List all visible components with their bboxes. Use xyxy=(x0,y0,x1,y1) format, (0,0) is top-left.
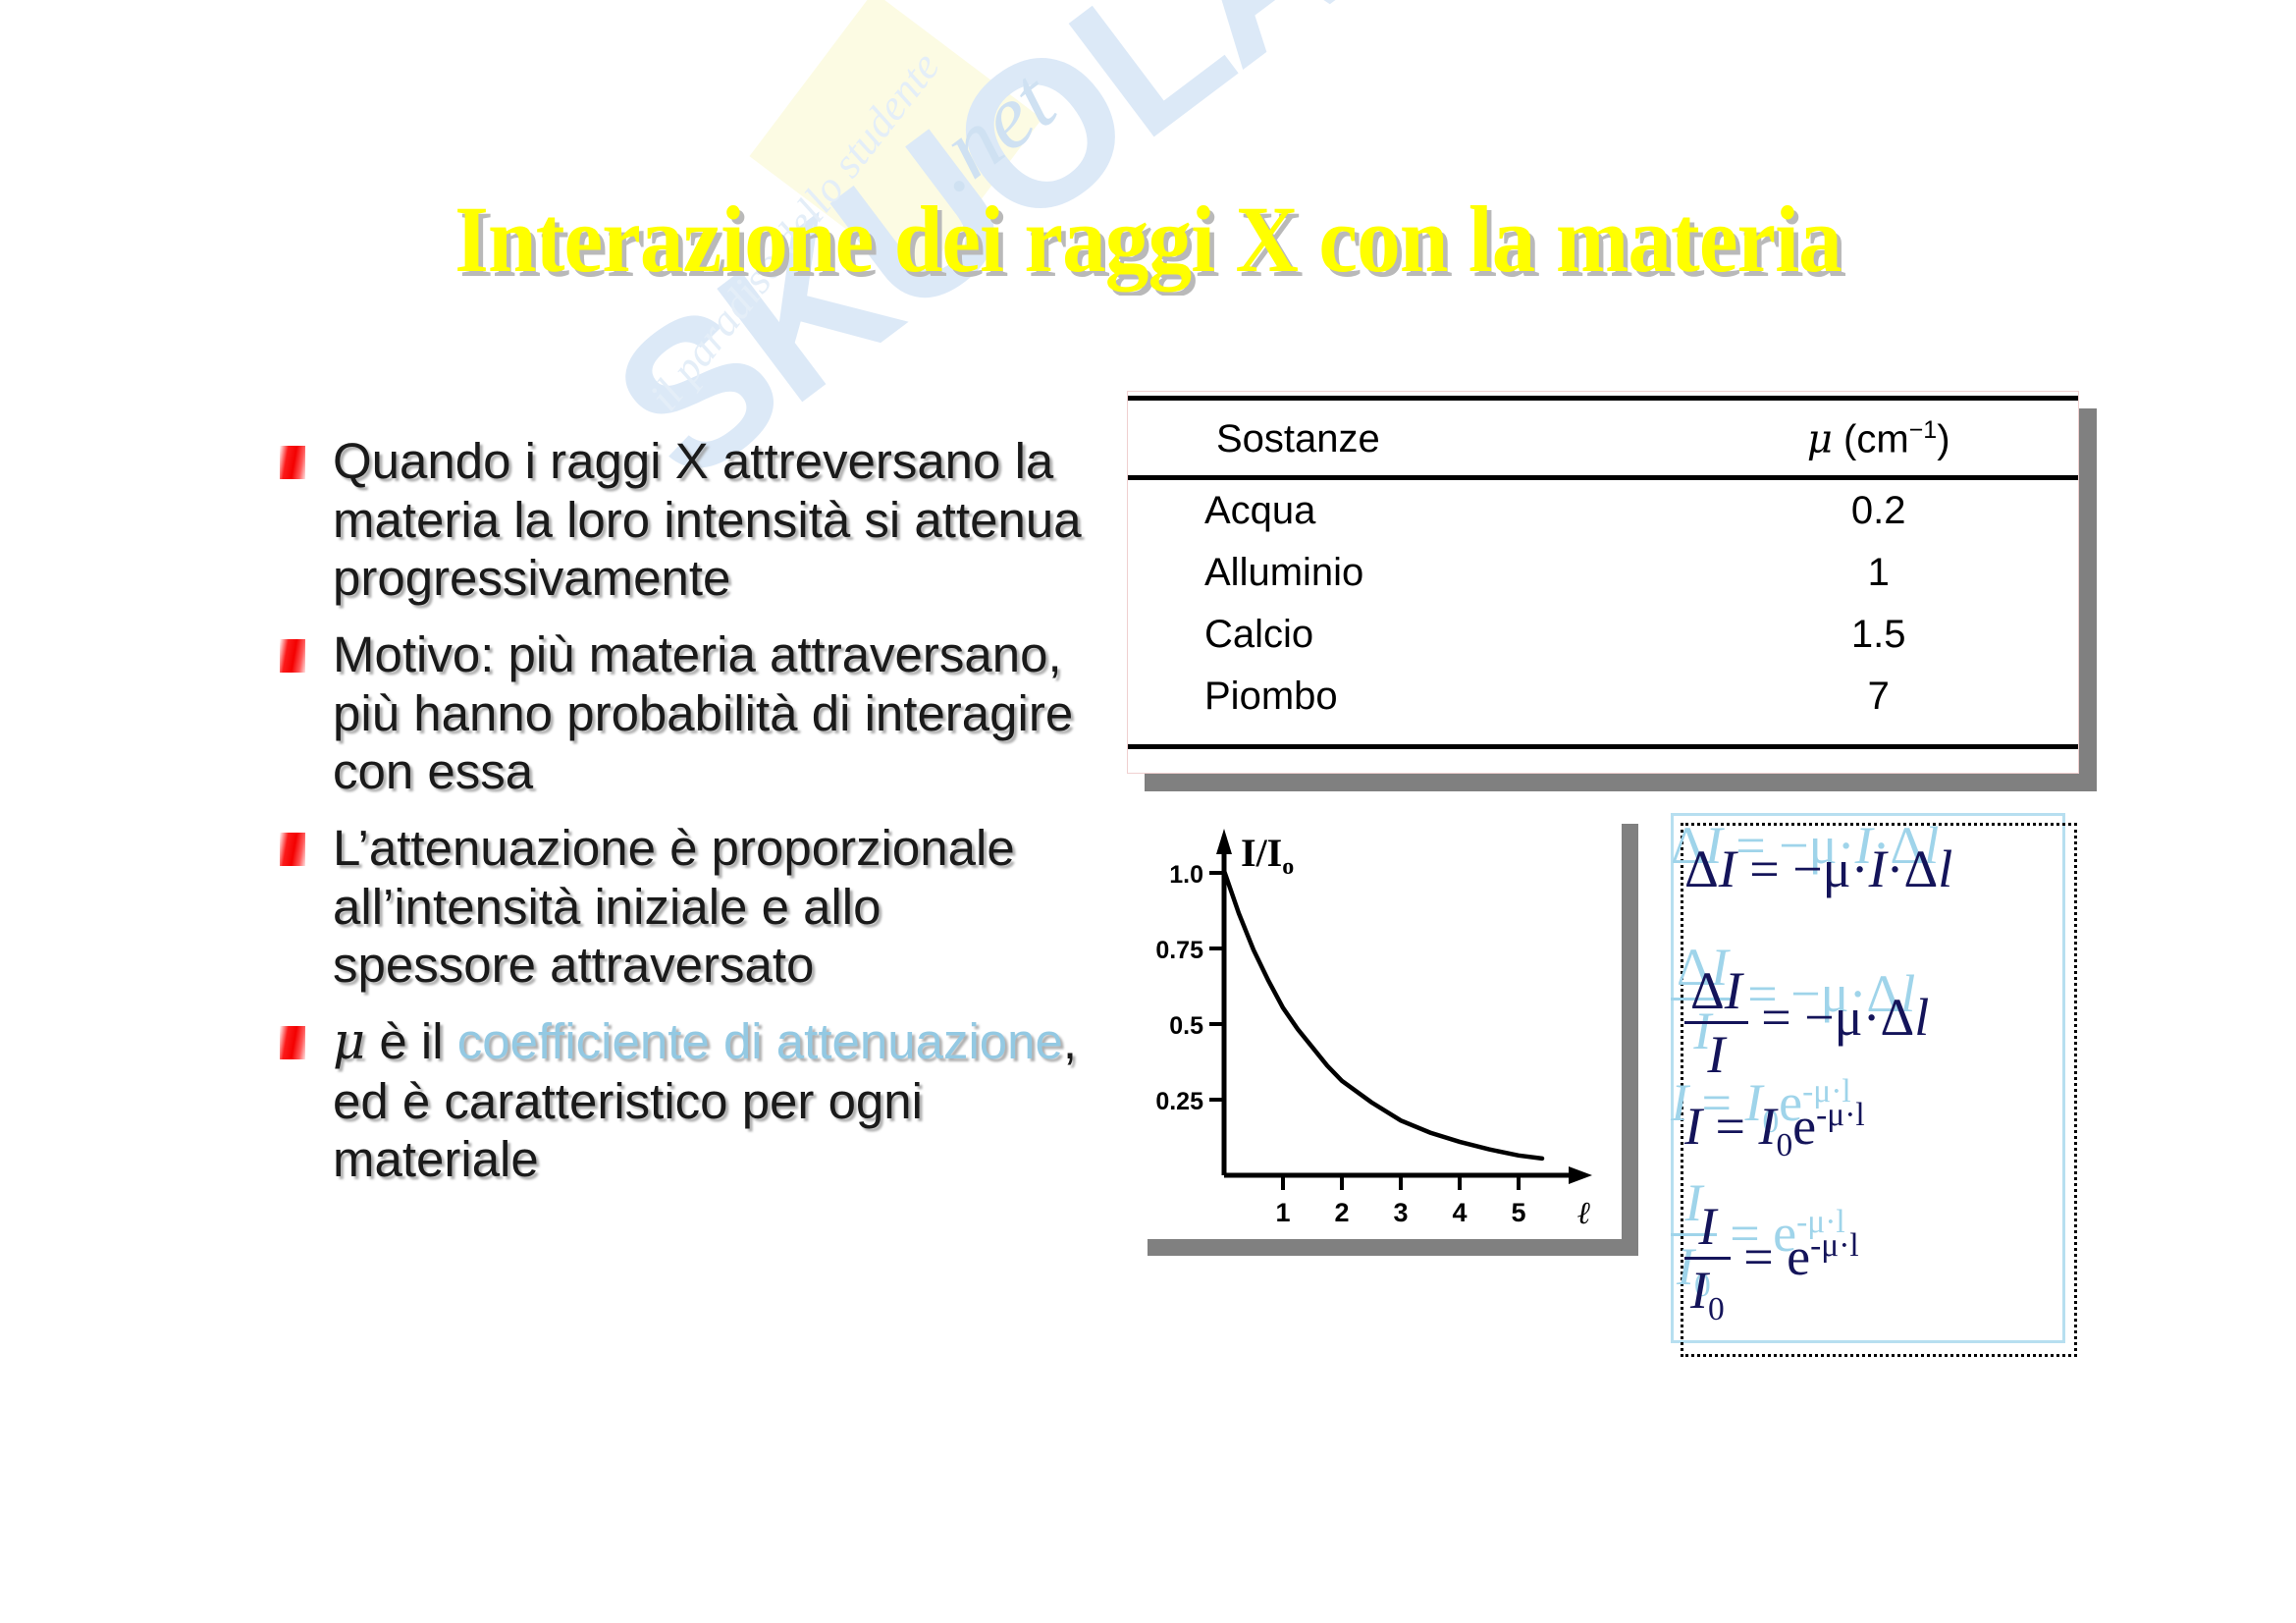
mu-table-card: Sostanze μ (cm−1) Acqua 0.2 Alluminio 1 … xyxy=(1127,391,2079,774)
chart-ytick-0.75: 0.75 xyxy=(1155,937,1203,964)
chart-x-axis-label: ℓ xyxy=(1577,1195,1591,1230)
chart-xtick-5: 5 xyxy=(1511,1198,1525,1227)
cell-mu: 7 xyxy=(1679,666,2078,747)
table-row: Alluminio 1 xyxy=(1128,542,2078,604)
formula-i-over-i0-exp-solid: II0 = e-μ·l xyxy=(1684,1227,1859,1286)
table-row: Acqua 0.2 xyxy=(1128,478,2078,543)
bullet-square-icon xyxy=(280,446,305,479)
mu-symbol: μ xyxy=(333,1013,365,1071)
bullet-text-1: Quando i raggi X attreversano la materia… xyxy=(333,432,1095,608)
chart-y-axis-label: I/Io xyxy=(1241,831,1294,880)
chart-ytick-0.25: 0.25 xyxy=(1155,1088,1203,1115)
cell-mu: 1 xyxy=(1679,542,2078,604)
chart-xtick-2: 2 xyxy=(1334,1198,1349,1227)
formula-i-over-i0-exp: II0 = e-μ·l II0 = e-μ·l xyxy=(1684,1196,1859,1328)
chart-panel: 1.0 0.75 0.5 0.25 1 2 3 4 5 xyxy=(1131,807,1622,1239)
cell-mu: 1.5 xyxy=(1679,604,2078,666)
header-unit-close: ) xyxy=(1937,417,1949,460)
header-unit-open: (cm xyxy=(1843,417,1909,460)
table-row: Piombo 7 xyxy=(1128,666,2078,747)
attenuation-chart-card: 1.0 0.75 0.5 0.25 1 2 3 4 5 xyxy=(1131,807,1622,1239)
list-item: Quando i raggi X attreversano la materia… xyxy=(280,432,1095,608)
table-header-row: Sostanze μ (cm−1) xyxy=(1128,399,2078,478)
chart-xtick-1: 1 xyxy=(1275,1198,1290,1227)
bullet-4-part-a: è il xyxy=(365,1013,457,1069)
bullet-text-2: Motivo: più materia attraversano, più ha… xyxy=(333,625,1095,801)
chart-decay-curve xyxy=(1224,871,1542,1159)
table-header-sostanze: Sostanze xyxy=(1128,399,1679,478)
list-item: μ è il coefficiente di attenuazione, ed … xyxy=(280,1012,1095,1189)
cell-substance: Alluminio xyxy=(1128,542,1679,604)
bullet-4-highlight: coefficiente di attenuazione xyxy=(457,1013,1063,1069)
attenuation-chart: 1.0 0.75 0.5 0.25 1 2 3 4 5 xyxy=(1131,807,1622,1239)
bullet-text-3: L’attenuazione è proporzionale all’inten… xyxy=(333,819,1095,995)
bullet-text-4: μ è il coefficiente di attenuazione, ed … xyxy=(333,1012,1095,1189)
formula-delta-i-solid: ΔI = −μ·I·Δl xyxy=(1684,839,1952,898)
cell-substance: Piombo xyxy=(1128,666,1679,747)
formula-delta-i: ΔI = −μ·I·Δl ΔI = −μ·I·Δl xyxy=(1684,839,1952,899)
chart-ytick-1.0: 1.0 xyxy=(1169,861,1203,889)
table-panel: Sostanze μ (cm−1) Acqua 0.2 Alluminio 1 … xyxy=(1127,391,2079,774)
formula-i-exp: I = I0e-μ·l I = I0e-μ·l xyxy=(1684,1096,1865,1164)
chart-xtick-3: 3 xyxy=(1393,1198,1408,1227)
table-header-mu: μ (cm−1) xyxy=(1679,399,2078,478)
header-mu-symbol: μ xyxy=(1807,416,1833,461)
bullet-square-icon xyxy=(280,639,305,673)
mu-table: Sostanze μ (cm−1) Acqua 0.2 Alluminio 1 … xyxy=(1128,396,2078,749)
chart-xtick-4: 4 xyxy=(1452,1198,1467,1227)
formula-panel: ΔI = −μ·I·Δl ΔI = −μ·I·Δl ΔII = −μ·Δl ΔI… xyxy=(1671,813,2065,1343)
header-unit-exponent: −1 xyxy=(1909,416,1938,444)
list-item: Motivo: più materia attraversano, più ha… xyxy=(280,625,1095,801)
cell-mu: 0.2 xyxy=(1679,478,2078,543)
slide-title: Interazione dei raggi X con la materia xyxy=(80,185,2216,294)
formula-delta-i-over-i-solid: ΔII = −μ·Δl xyxy=(1684,988,1929,1047)
cell-substance: Calcio xyxy=(1128,604,1679,666)
list-item: L’attenuazione è proporzionale all’inten… xyxy=(280,819,1095,995)
chart-ytick-0.5: 0.5 xyxy=(1169,1012,1203,1040)
cell-substance: Acqua xyxy=(1128,478,1679,543)
bullet-square-icon xyxy=(280,833,305,866)
formula-delta-i-over-i: ΔII = −μ·Δl ΔII = −μ·Δl xyxy=(1684,960,1929,1085)
formula-i-exp-solid: I = I0e-μ·l xyxy=(1684,1097,1865,1156)
table-row: Calcio 1.5 xyxy=(1128,604,2078,666)
bullet-square-icon xyxy=(280,1026,305,1059)
bullet-list: Quando i raggi X attreversano la materia… xyxy=(280,432,1095,1207)
